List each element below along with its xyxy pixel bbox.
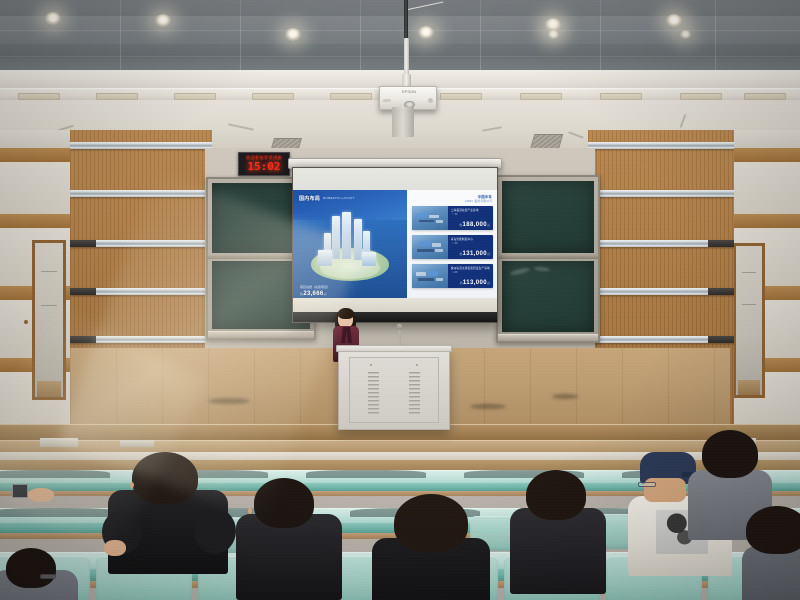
card-value: 约131,000㎡ <box>459 251 490 257</box>
card-subtitle: （一期） <box>451 213 490 216</box>
projector-column-below <box>392 107 414 137</box>
card-subtitle: （三期） <box>451 271 490 274</box>
slide-card: 上海临港总部产业基地 （一期） 约188,000㎡ <box>412 206 493 230</box>
projection-screen: 国内布局 DOMESTIC LAYOUT 项目总量（在建项目） 约23,666㎡… <box>292 167 498 323</box>
led-time-text: 15:02 <box>239 161 289 172</box>
ceiling-light <box>418 26 434 39</box>
card-title: 青岛智能制造中心 <box>451 237 490 241</box>
presentation-slide: 国内布局 DOMESTIC LAYOUT 项目总量（在建项目） 约23,666㎡… <box>293 190 497 298</box>
slide-building <box>342 212 351 260</box>
card-thumbnail <box>412 206 448 230</box>
ceiling-light <box>285 28 301 41</box>
card-thumbnail <box>412 235 448 259</box>
ceiling-light <box>155 14 171 27</box>
student-4 <box>510 470 606 580</box>
slide-hero-panel: 国内布局 DOMESTIC LAYOUT 项目总量（在建项目） 约23,666㎡ <box>293 190 407 298</box>
stage-edge-fixture <box>120 440 154 447</box>
student-hand <box>104 540 126 556</box>
stage-edge-fixture <box>40 438 78 447</box>
ceiling-light <box>680 30 691 39</box>
slide-hero-number: 23,666 <box>303 291 323 297</box>
podium-vent-grille <box>368 372 379 414</box>
card-thumbnail <box>412 264 448 288</box>
slide-building <box>318 250 332 265</box>
card-number: 188,000 <box>462 222 487 228</box>
card-number: 113,000 <box>463 280 487 286</box>
card-subtitle: （二期） <box>451 242 490 245</box>
student-hand <box>28 488 54 502</box>
door-handle-icon[interactable] <box>24 320 28 324</box>
card-value: 约113,000㎡ <box>460 280 490 286</box>
slide-title: 国内布局 <box>299 195 320 202</box>
podium-microphone-head <box>397 324 402 330</box>
projector-mount-pole <box>404 38 409 76</box>
card-title: 上海临港总部产业基地 <box>451 208 490 212</box>
student-hair <box>254 478 314 528</box>
presenter-hair-top <box>338 308 354 319</box>
card-unit: ㎡ <box>487 224 490 227</box>
card-title: 株洲轨道交通装备研发生产基地 <box>451 266 490 270</box>
card-unit: ㎡ <box>487 253 490 256</box>
podium-vent-grille <box>409 372 420 414</box>
slide-building <box>332 216 340 259</box>
podium-front-panel <box>349 357 439 423</box>
student-glasses <box>40 574 56 579</box>
projector-brand-label: EPSON <box>402 89 416 94</box>
lectern-podium <box>338 348 450 430</box>
student-torso <box>742 546 800 600</box>
slide-cards-panel: 中国中车 CRRC 股份有限公司 上海临港总部产业基地 （一期） 约1 <box>407 190 497 298</box>
slide-card: 株洲轨道交通装备研发生产基地 （三期） 约113,000㎡ <box>412 264 493 288</box>
podium-top-surface <box>336 345 452 352</box>
slide-card: 青岛智能制造中心 （二期） 约131,000㎡ <box>412 235 493 259</box>
slide-hero-caption: 项目总量（在建项目） <box>300 285 330 289</box>
left-doorway[interactable] <box>32 240 66 400</box>
slide-building <box>362 252 377 266</box>
screen-lower-blank <box>293 298 497 312</box>
card-number: 131,000 <box>462 251 487 257</box>
student-3 <box>372 494 490 600</box>
lecture-hall-photo: EPSON <box>0 0 800 600</box>
ceiling-light <box>45 12 61 25</box>
student-hair <box>702 430 758 478</box>
ceiling-light <box>548 30 559 39</box>
student-hair <box>6 548 56 588</box>
student-8 <box>0 548 78 600</box>
student-7 <box>742 520 800 600</box>
student-hair <box>394 494 468 552</box>
brand-sub-text: CRRC 股份有限公司 <box>465 199 492 203</box>
slide-subtitle: DOMESTIC LAYOUT <box>323 196 354 200</box>
screen-weight-bar <box>293 312 497 322</box>
blackboard-right-frame <box>496 175 600 343</box>
card-value: 约188,000㎡ <box>459 222 490 228</box>
slide-hero-unit: ㎡ <box>323 292 326 296</box>
projector-ceiling-rod <box>404 0 408 40</box>
slide-building <box>354 219 362 260</box>
slide-hero-value: 约23,666㎡ <box>300 291 327 297</box>
student-phone[interactable] <box>12 484 28 498</box>
student-phone-user <box>10 482 56 510</box>
student-hair <box>746 506 800 554</box>
ceiling <box>0 0 800 78</box>
student-glasses <box>638 482 656 487</box>
student-hair <box>132 452 198 504</box>
student-torso <box>510 508 606 594</box>
student-2 <box>236 478 342 588</box>
ceiling-light <box>666 14 682 27</box>
student-hair <box>526 470 586 520</box>
student-1 <box>108 452 228 562</box>
slide-brand-logo: 中国中车 CRRC 股份有限公司 <box>465 194 492 203</box>
led-clock-display: 欢迎参加学术讲座 15:02 <box>238 152 290 176</box>
card-unit: ㎡ <box>487 282 490 285</box>
right-doorway[interactable] <box>733 243 765 398</box>
